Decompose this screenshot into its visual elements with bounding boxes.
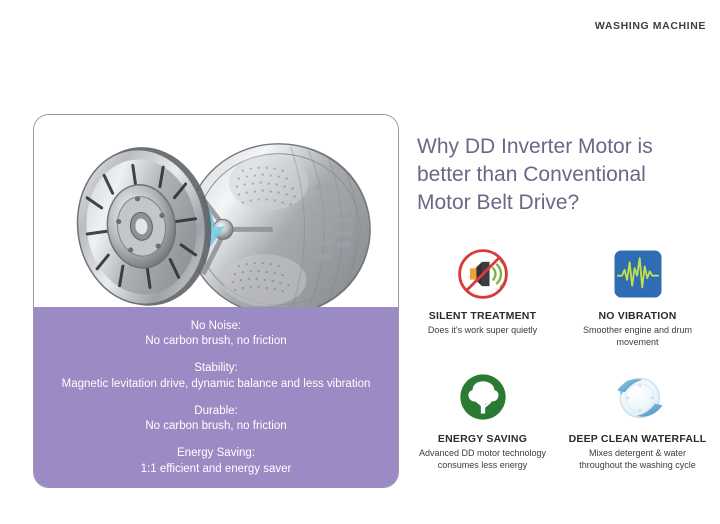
feature-title: ENERGY SAVING: [438, 433, 527, 445]
feature-title: DEEP CLEAN WATERFALL: [569, 433, 707, 445]
benefit-desc: 1:1 efficient and energy saver: [44, 462, 388, 477]
benefit-desc: Magnetic levitation drive, dynamic balan…: [44, 377, 388, 392]
benefit-title: Energy Saving:: [44, 446, 388, 461]
feature-desc: Mixes detergent & water throughout the w…: [568, 447, 708, 471]
benefit-item: Energy Saving: 1:1 efficient and energy …: [44, 446, 388, 477]
feature-deep-clean-waterfall: DEEP CLEAN WATERFALL Mixes detergent & w…: [560, 366, 715, 471]
drum-body: [187, 144, 370, 307]
benefit-title: Durable:: [44, 404, 388, 419]
benefit-item: No Noise: No carbon brush, no friction: [44, 319, 388, 350]
waveform-icon: [607, 243, 669, 305]
product-card: No Noise: No carbon brush, no friction S…: [33, 114, 399, 488]
drum-svg: [34, 115, 398, 307]
feature-title: NO VIBRATION: [598, 310, 676, 322]
benefit-title: No Noise:: [44, 319, 388, 334]
feature-desc: Does it's work super quietly: [428, 324, 537, 336]
feature-no-vibration: NO VIBRATION Smoother engine and drum mo…: [560, 243, 715, 348]
page-kicker: WASHING MACHINE: [595, 20, 706, 32]
water-swirl-icon: [607, 366, 669, 428]
feature-title: SILENT TREATMENT: [429, 310, 536, 322]
page-title: Why DD Inverter Motor is better than Con…: [417, 133, 702, 217]
benefit-desc: No carbon brush, no friction: [44, 419, 388, 434]
benefit-title: Stability:: [44, 361, 388, 376]
benefits-panel: No Noise: No carbon brush, no friction S…: [34, 307, 398, 487]
feature-desc: Smoother engine and drum movement: [568, 324, 708, 348]
no-sound-icon: [452, 243, 514, 305]
slide-root: WASHING MACHINE: [0, 0, 720, 524]
feature-grid: SILENT TREATMENT Does it's work super qu…: [405, 243, 715, 472]
feature-silent-treatment: SILENT TREATMENT Does it's work super qu…: [405, 243, 560, 348]
tree-icon: [452, 366, 514, 428]
benefit-desc: No carbon brush, no friction: [44, 334, 388, 349]
drum-illustration: [34, 115, 398, 307]
benefit-item: Durable: No carbon brush, no friction: [44, 404, 388, 435]
benefit-item: Stability: Magnetic levitation drive, dy…: [44, 361, 388, 392]
dd-motor-rotor: [68, 138, 222, 306]
feature-energy-saving: ENERGY SAVING Advanced DD motor technolo…: [405, 366, 560, 471]
feature-desc: Advanced DD motor technology consumes le…: [413, 447, 553, 471]
